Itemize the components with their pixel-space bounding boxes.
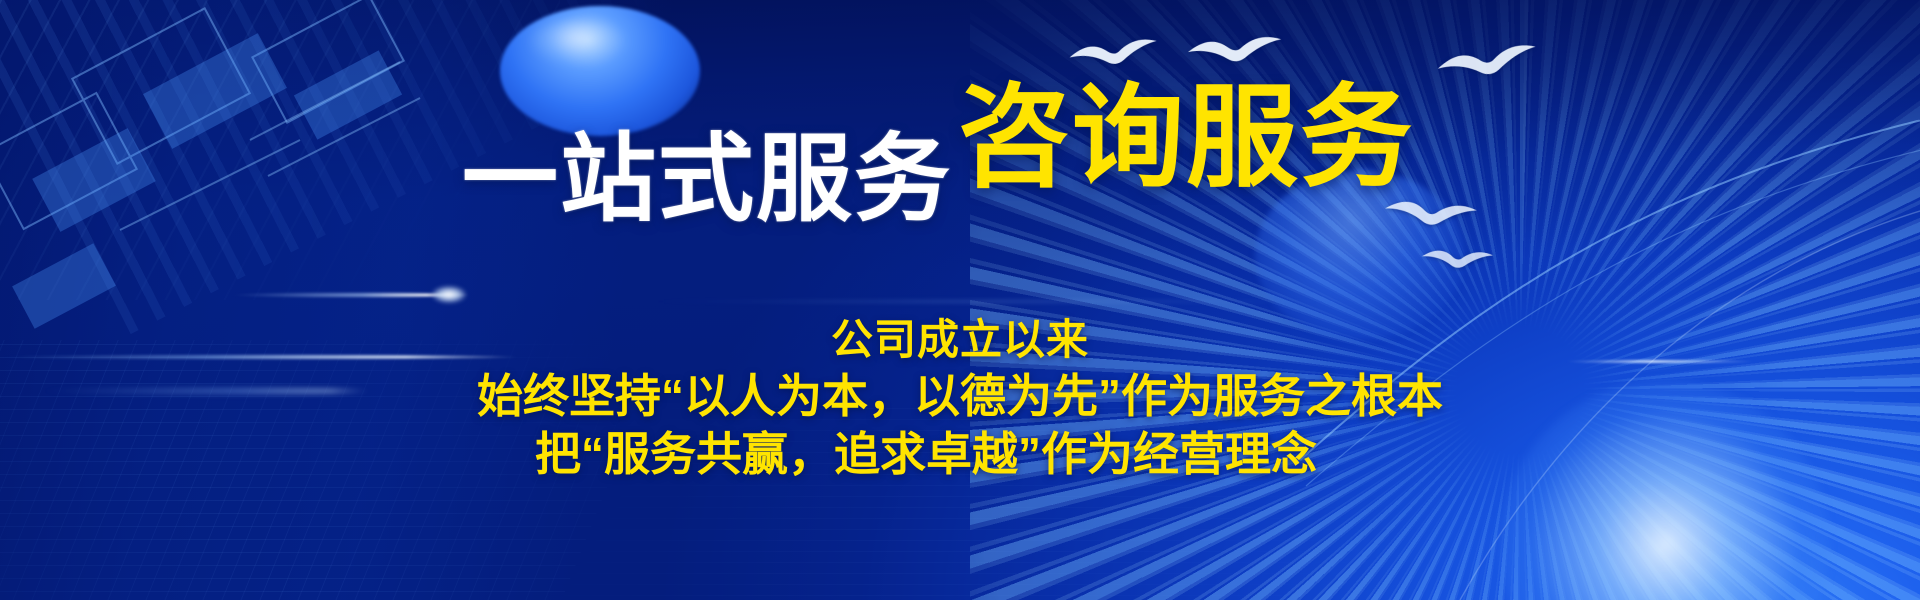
background-gradient bbox=[0, 0, 1920, 600]
promo-banner: 一站式服务咨询服务 公司成立以来 始终坚持“以人为本，以德为先”作为服务之根本 … bbox=[0, 0, 1920, 600]
